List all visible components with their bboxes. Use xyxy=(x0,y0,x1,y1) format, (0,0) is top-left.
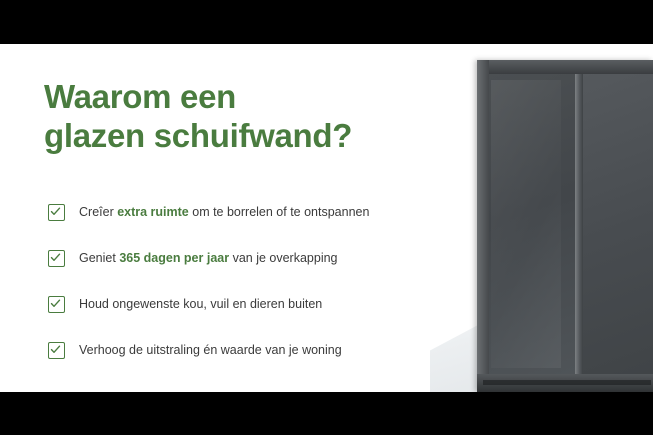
glazen-schuifwand-photo xyxy=(430,44,653,392)
list-item-text: Geniet xyxy=(79,251,119,265)
frame-left-post xyxy=(477,60,489,392)
checkbox-check-icon xyxy=(48,250,65,267)
list-item-text: om te borrelen of te ontspannen xyxy=(189,205,370,219)
list-item-label: Geniet 365 dagen per jaar van je overkap… xyxy=(79,250,338,266)
checkbox-check-icon xyxy=(48,342,65,359)
frame-bottom-track xyxy=(483,380,651,385)
page-title-line-2: glazen schuifwand? xyxy=(44,116,464,155)
list-item-highlight: 365 dagen per jaar xyxy=(119,251,229,265)
list-item: Geniet 365 dagen per jaar van je overkap… xyxy=(48,235,468,281)
page-title: Waarom een glazen schuifwand? xyxy=(44,77,464,155)
list-item-highlight: extra ruimte xyxy=(117,205,189,219)
list-item-label: Houd ongewenste kou, vuil en dieren buit… xyxy=(79,296,322,312)
glass-panel-right xyxy=(581,74,653,374)
letterbox-top xyxy=(0,0,653,44)
benefit-list: Creîer extra ruimte om te borrelen of te… xyxy=(48,189,468,373)
checkbox-check-icon xyxy=(48,204,65,221)
frame-top-rail xyxy=(477,60,653,74)
list-item-label: Creîer extra ruimte om te borrelen of te… xyxy=(79,204,369,220)
letterbox-bottom xyxy=(0,392,653,435)
sliding-wall-frame xyxy=(477,60,653,392)
list-item-text: Verhoog de uitstraling én waarde van je … xyxy=(79,343,342,357)
list-item: Houd ongewenste kou, vuil en dieren buit… xyxy=(48,281,468,327)
page-title-line-1: Waarom een xyxy=(44,77,464,116)
list-item: Creîer extra ruimte om te borrelen of te… xyxy=(48,189,468,235)
checkbox-check-icon xyxy=(48,296,65,313)
list-item-text: Houd ongewenste kou, vuil en dieren buit… xyxy=(79,297,322,311)
list-item-text: van je overkapping xyxy=(229,251,337,265)
slide-root: Waarom een glazen schuifwand? Creîer ext… xyxy=(0,0,653,435)
panel-mullion xyxy=(575,74,583,374)
glass-reflection xyxy=(491,80,561,368)
list-item: Verhoog de uitstraling én waarde van je … xyxy=(48,327,468,373)
list-item-text: Creîer xyxy=(79,205,117,219)
slide-canvas: Waarom een glazen schuifwand? Creîer ext… xyxy=(0,44,653,392)
list-item-label: Verhoog de uitstraling én waarde van je … xyxy=(79,342,342,358)
